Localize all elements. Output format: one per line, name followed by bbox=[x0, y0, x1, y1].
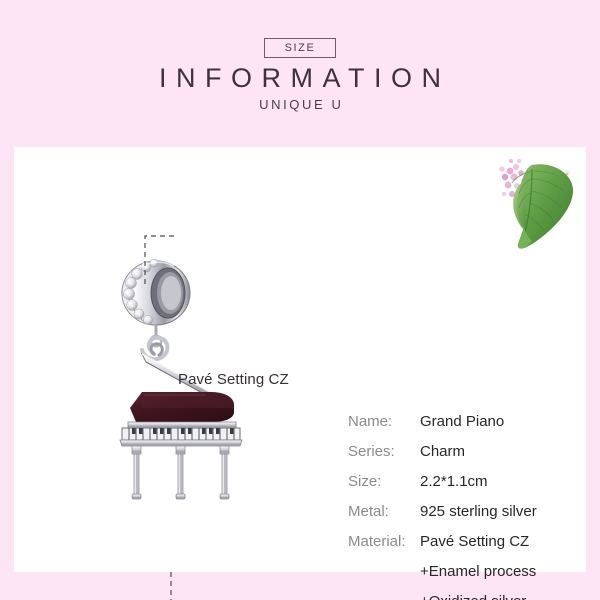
size-badge: SIZE bbox=[264, 38, 336, 58]
spec-row-metal: Metal: 925 sterling silver bbox=[348, 504, 588, 534]
product-size-information-page: SIZE INFORMATION UNIQUE U bbox=[0, 0, 600, 600]
spec-label-name: Name: bbox=[348, 414, 420, 429]
spec-label-size: Size: bbox=[348, 474, 420, 489]
spec-label-metal: Metal: bbox=[348, 504, 420, 519]
piano-enamel-top bbox=[130, 392, 234, 422]
pave-annotation-label: Pavé Setting CZ bbox=[178, 372, 289, 387]
spec-value-name: Grand Piano bbox=[420, 414, 504, 429]
pave-bail bbox=[122, 259, 190, 325]
spec-value-material-oxidized: +Oxidized silver bbox=[420, 594, 526, 600]
piano-legs bbox=[132, 446, 229, 499]
leaf-and-blossom-icon bbox=[488, 147, 580, 255]
enamel-leader-line bbox=[132, 572, 174, 600]
spec-row-material-enamel: +Enamel process bbox=[348, 564, 588, 594]
spec-value-material-enamel: +Enamel process bbox=[420, 564, 536, 579]
spec-value-size: 2.2*1.1cm bbox=[420, 474, 488, 489]
information-card: Pavé Setting CZ Enamel process Name: Gra… bbox=[14, 147, 586, 572]
spec-value-metal: 925 sterling silver bbox=[420, 504, 537, 519]
size-badge-label: SIZE bbox=[285, 43, 316, 54]
page-subtitle: UNIQUE U bbox=[0, 98, 600, 112]
page-title: INFORMATION bbox=[0, 64, 600, 92]
spec-label-material: Material: bbox=[348, 534, 420, 549]
spec-row-material-oxidized: +Oxidized silver bbox=[348, 594, 588, 600]
specification-list: Name: Grand Piano Series: Charm Size: 2.… bbox=[348, 414, 588, 600]
spec-value-material: Pavé Setting CZ bbox=[420, 534, 529, 549]
spec-label-series: Series: bbox=[348, 444, 420, 459]
spec-row-name: Name: Grand Piano bbox=[348, 414, 588, 444]
piano-keyboard bbox=[120, 428, 242, 446]
spec-value-series: Charm bbox=[420, 444, 465, 459]
spec-row-series: Series: Charm bbox=[348, 444, 588, 474]
page-header: SIZE INFORMATION UNIQUE U bbox=[0, 0, 600, 140]
spec-row-size: Size: 2.2*1.1cm bbox=[348, 474, 588, 504]
spec-row-material: Material: Pavé Setting CZ bbox=[348, 534, 588, 564]
